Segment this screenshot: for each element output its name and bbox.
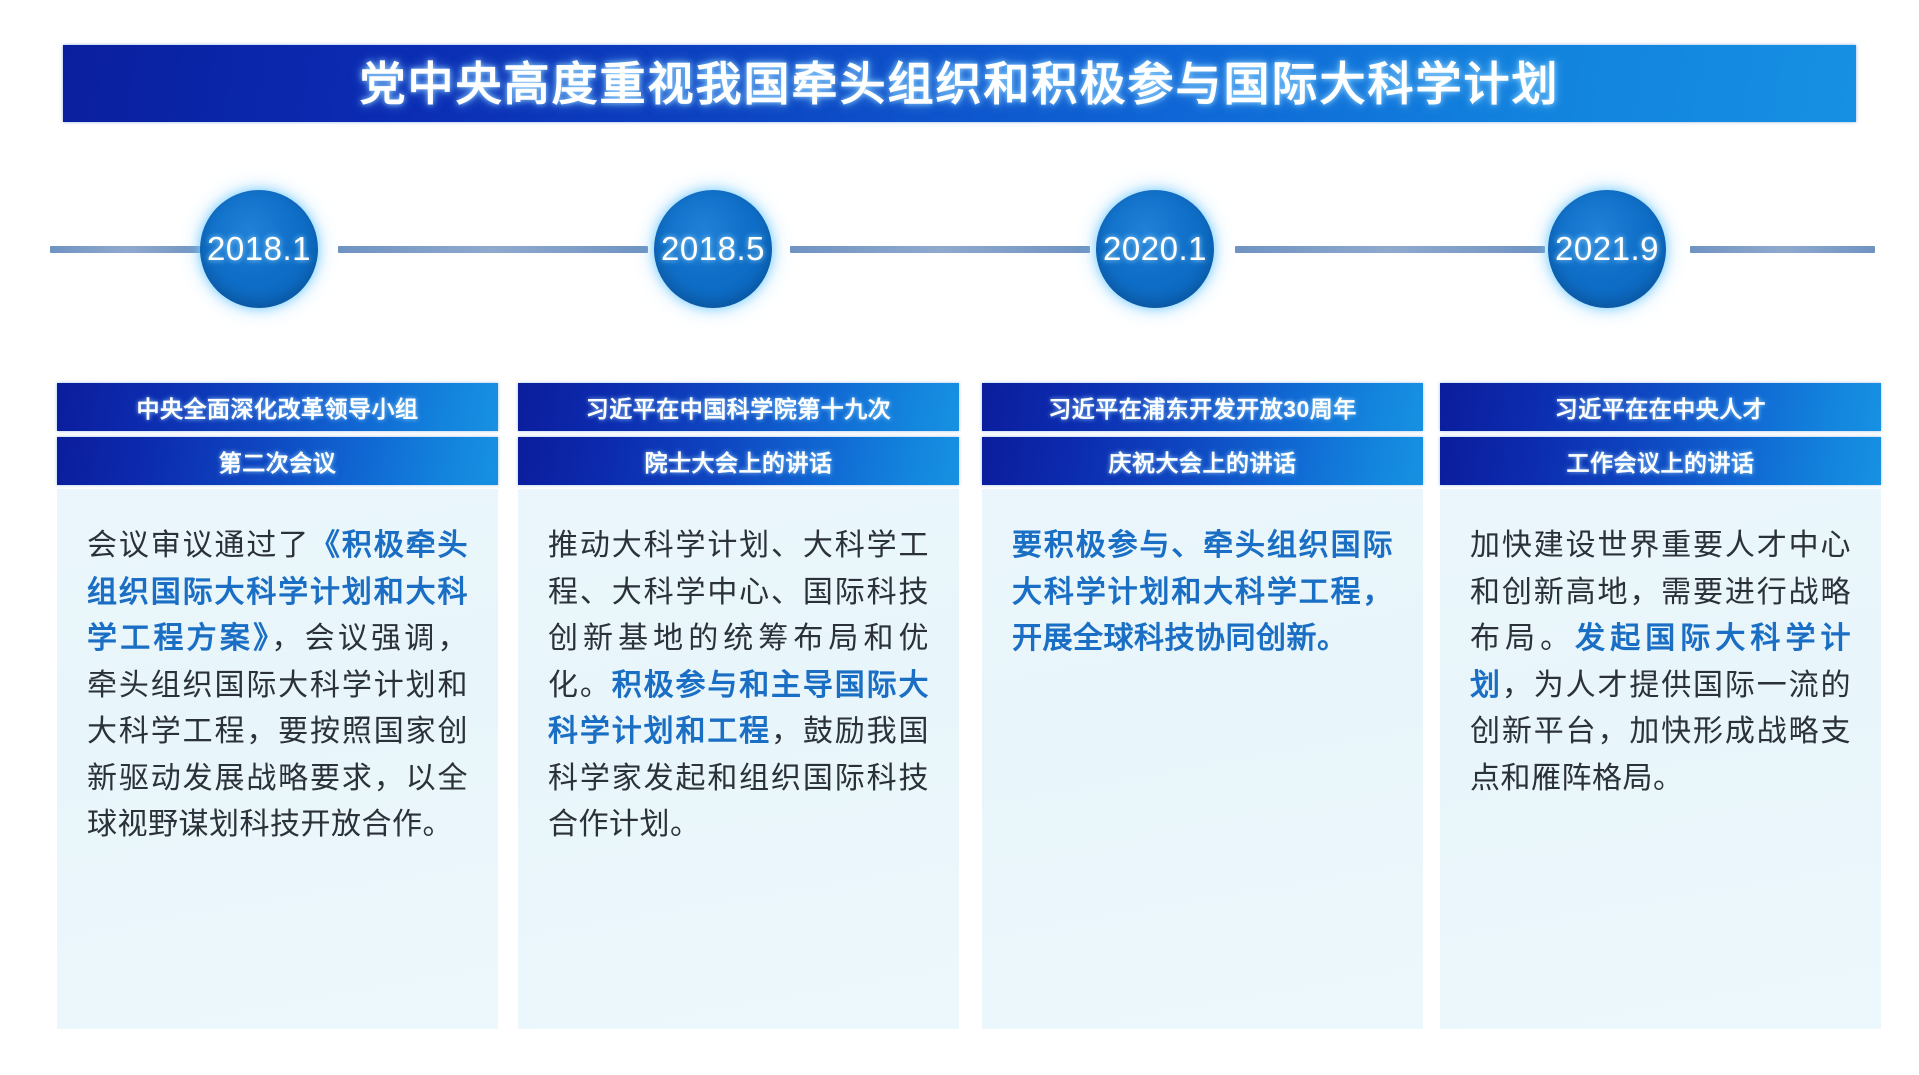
timeline-node-2021-9[interactable]: 2021.9 bbox=[1548, 190, 1666, 308]
timeline-card-3[interactable]: 习近平在浦东开发开放30周年 庆祝大会上的讲话 要积极参与、牵头组织国际大科学计… bbox=[982, 383, 1423, 1029]
timeline-node-2020-1[interactable]: 2020.1 bbox=[1096, 190, 1214, 308]
card-header-line-2: 工作会议上的讲话 bbox=[1440, 437, 1881, 485]
timeline-node-2018-5[interactable]: 2018.5 bbox=[654, 190, 772, 308]
card-header-line-1: 习近平在中国科学院第十九次 bbox=[518, 383, 959, 431]
card-body-text: 加快建设世界重要人才中心和创新高地，需要进行战略布局。发起国际大科学计划，为人才… bbox=[1470, 523, 1851, 802]
card-header-line-1: 习近平在浦东开发开放30周年 bbox=[982, 383, 1423, 431]
card-header-text: 习近平在中国科学院第十九次 bbox=[586, 390, 892, 424]
body-text: ，为人才提供国际一流的创新平台，加快形成战略支点和雁阵格局。 bbox=[1470, 669, 1851, 795]
card-body: 推动大科学计划、大科学工程、大科学中心、国际科技创新基地的统筹布局和优化。积极参… bbox=[518, 489, 959, 1029]
timeline-card-1[interactable]: 中央全面深化改革领导小组 第二次会议 会议审议通过了《积极牵头组织国际大科学计划… bbox=[57, 383, 498, 1029]
card-body: 要积极参与、牵头组织国际大科学计划和大科学工程，开展全球科技协同创新。 bbox=[982, 489, 1423, 1029]
card-header-text: 第二次会议 bbox=[219, 444, 337, 478]
card-header-line-2: 第二次会议 bbox=[57, 437, 498, 485]
timeline-card-2[interactable]: 习近平在中国科学院第十九次 院士大会上的讲话 推动大科学计划、大科学工程、大科学… bbox=[518, 383, 959, 1029]
page-title-banner: 党中央高度重视我国牵头组织和积极参与国际大科学计划 bbox=[63, 45, 1856, 122]
timeline-node-2018-1[interactable]: 2018.1 bbox=[200, 190, 318, 308]
timeline-node-label: 2021.9 bbox=[1555, 230, 1659, 268]
card-header-text: 习近平在在中央人才 bbox=[1555, 390, 1767, 424]
card-header-line-2: 院士大会上的讲话 bbox=[518, 437, 959, 485]
timeline-connector-line bbox=[1235, 246, 1545, 253]
card-header-text: 庆祝大会上的讲话 bbox=[1109, 444, 1297, 478]
card-header-text: 中央全面深化改革领导小组 bbox=[137, 390, 419, 424]
card-header-text: 工作会议上的讲话 bbox=[1567, 444, 1755, 478]
page-title: 党中央高度重视我国牵头组织和积极参与国际大科学计划 bbox=[360, 61, 1560, 107]
card-body-text: 会议审议通过了《积极牵头组织国际大科学计划和大科学工程方案》，会议强调，牵头组织… bbox=[87, 523, 468, 849]
timeline-node-label: 2020.1 bbox=[1103, 230, 1207, 268]
timeline-node-label: 2018.1 bbox=[207, 230, 311, 268]
card-body: 会议审议通过了《积极牵头组织国际大科学计划和大科学工程方案》，会议强调，牵头组织… bbox=[57, 489, 498, 1029]
timeline-card-list: 中央全面深化改革领导小组 第二次会议 会议审议通过了《积极牵头组织国际大科学计划… bbox=[0, 383, 1919, 1043]
timeline: 2018.1 2018.5 2020.1 2021.9 bbox=[0, 160, 1919, 300]
card-header-line-2: 庆祝大会上的讲话 bbox=[982, 437, 1423, 485]
highlighted-text: 要积极参与、牵头组织国际大科学计划和大科学工程，开展全球科技协同创新。 bbox=[1012, 529, 1393, 655]
timeline-node-label: 2018.5 bbox=[661, 230, 765, 268]
card-body: 加快建设世界重要人才中心和创新高地，需要进行战略布局。发起国际大科学计划，为人才… bbox=[1440, 489, 1881, 1029]
card-header-text: 院士大会上的讲话 bbox=[645, 444, 833, 478]
card-header-line-1: 中央全面深化改革领导小组 bbox=[57, 383, 498, 431]
timeline-card-4[interactable]: 习近平在在中央人才 工作会议上的讲话 加快建设世界重要人才中心和创新高地，需要进… bbox=[1440, 383, 1881, 1029]
timeline-connector-line bbox=[50, 246, 205, 253]
timeline-connector-line bbox=[338, 246, 648, 253]
body-text: 会议审议通过了 bbox=[87, 529, 310, 562]
card-header-text: 习近平在浦东开发开放30周年 bbox=[1048, 390, 1357, 424]
timeline-connector-line bbox=[790, 246, 1090, 253]
card-body-text: 要积极参与、牵头组织国际大科学计划和大科学工程，开展全球科技协同创新。 bbox=[1012, 523, 1393, 663]
timeline-connector-line bbox=[1690, 246, 1875, 253]
card-body-text: 推动大科学计划、大科学工程、大科学中心、国际科技创新基地的统筹布局和优化。积极参… bbox=[548, 523, 929, 849]
card-header-line-1: 习近平在在中央人才 bbox=[1440, 383, 1881, 431]
